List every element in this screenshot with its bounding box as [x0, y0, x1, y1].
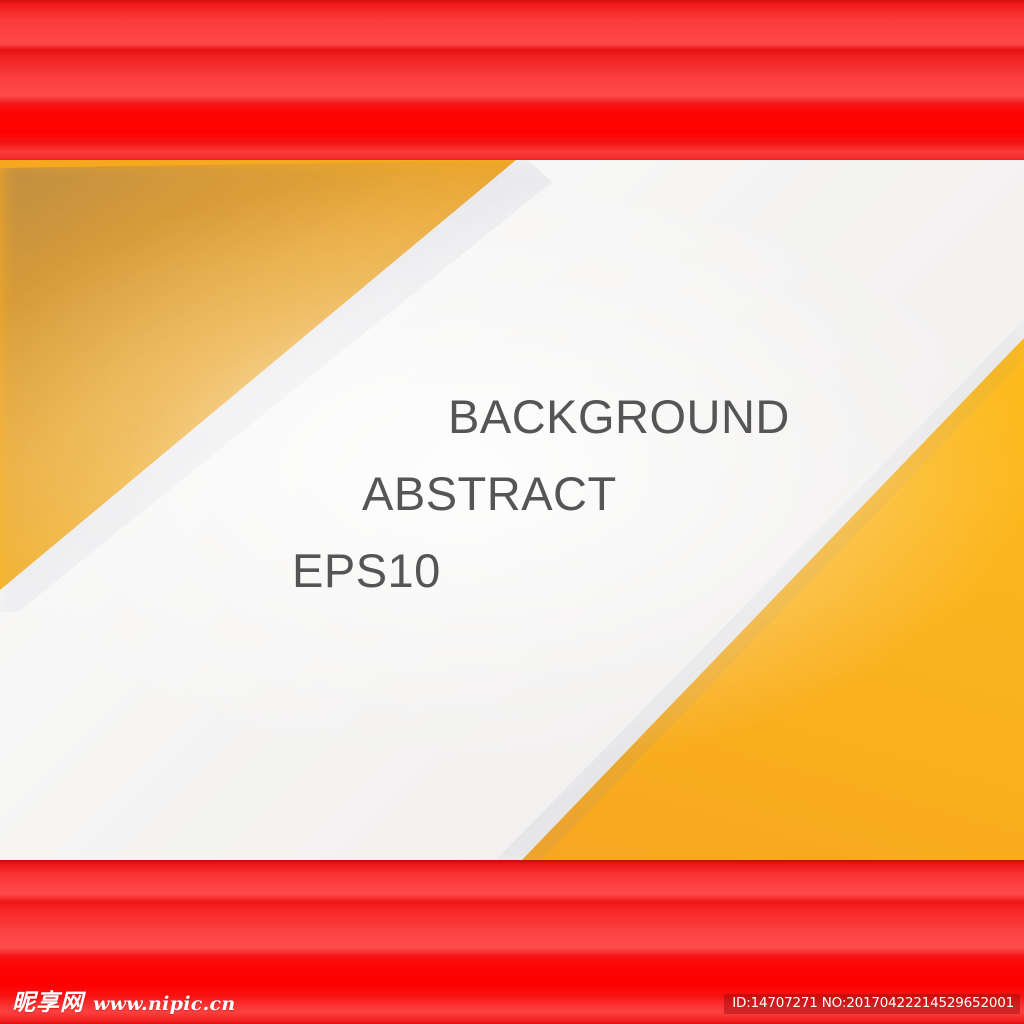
artwork-canvas: BACKGROUND ABSTRACT EPS10 昵享网 www.nipic.…	[0, 0, 1024, 1024]
headline-line-abstract: ABSTRACT	[0, 469, 900, 520]
asset-id-badge: ID:14707271 NO:20170422214529652001	[724, 994, 1020, 1015]
top-red-band	[0, 0, 1024, 162]
watermark-footer: 昵享网 www.nipic.cn ID:14707271 NO:20170422…	[0, 972, 1024, 1024]
nipic-logo-text: 昵享网	[12, 992, 84, 1015]
headline-block: BACKGROUND ABSTRACT EPS10	[0, 392, 900, 596]
headline-line-eps10: EPS10	[0, 546, 900, 597]
headline-line-background: BACKGROUND	[0, 392, 900, 443]
diagonal-composition: BACKGROUND ABSTRACT EPS10	[0, 160, 1024, 862]
watermark-brand: 昵享网 www.nipic.cn	[12, 992, 235, 1015]
nipic-site-url: www.nipic.cn	[93, 995, 235, 1014]
